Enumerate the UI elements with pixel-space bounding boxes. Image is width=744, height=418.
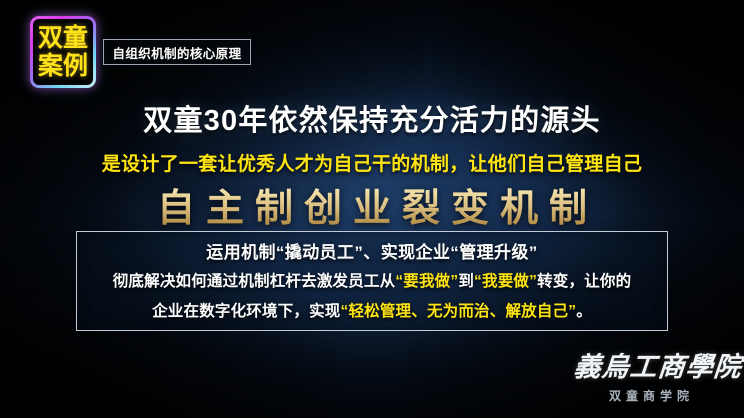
presentation-slide: 双童 案例 自组织机制的核心原理 双童30年依然保持充分活力的源头 是设计了一套… <box>0 0 744 418</box>
institution-logo-main: 義烏工商學院 <box>572 345 725 384</box>
headline-secondary: 是设计了一套让优秀人才为自己干的机制，让他们自己管理自己 <box>0 149 744 176</box>
statement-line-3-part-1: 企业在数字化环境下，实现 <box>152 303 340 320</box>
subtitle-chip: 自组织机制的核心原理 <box>103 39 251 65</box>
statement-box: 运用机制“撬动员工”、实现企业“管理升级” 彻底解决如何通过机制杠杆去激发员工从… <box>76 231 668 331</box>
institution-logo: 義烏工商學院 双童商学院 <box>574 345 724 404</box>
subtitle-chip-label: 自组织机制的核心原理 <box>112 43 241 62</box>
statement-line-2-part-3: 转变，让你的 <box>537 273 631 290</box>
statement-line-3: 企业在数字化环境下，实现“轻松管理、无为而治、解放自己”。 <box>77 297 667 327</box>
statement-line-3-highlight-1: “轻松管理、无为而治、解放自己” <box>341 303 577 320</box>
statement-line-2-part-1: 彻底解决如何通过机制杠杆去激发员工从 <box>113 273 396 290</box>
case-badge-line-1: 双童 <box>38 25 88 52</box>
headline-feature-title: 自主制创业裂变机制 <box>0 177 744 232</box>
case-badge-line-2: 案例 <box>38 53 88 80</box>
statement-line-2-highlight-1: “要我做” <box>395 273 458 290</box>
headline-primary: 双童30年依然保持充分活力的源头 <box>0 97 744 139</box>
statement-line-2: 彻底解决如何通过机制杠杆去激发员工从“要我做”到“我要做”转变，让你的 <box>77 267 667 297</box>
case-badge-inner: 双童 案例 <box>33 19 93 85</box>
statement-line-2-highlight-2: “我要做” <box>474 273 537 290</box>
institution-logo-sub: 双童商学院 <box>574 387 724 404</box>
statement-line-2-part-2: 到 <box>458 273 474 290</box>
statement-line-1: 运用机制“撬动员工”、实现企业“管理升级” <box>77 239 667 267</box>
statement-line-3-part-2: 。 <box>576 303 592 320</box>
case-badge: 双童 案例 <box>30 16 96 88</box>
